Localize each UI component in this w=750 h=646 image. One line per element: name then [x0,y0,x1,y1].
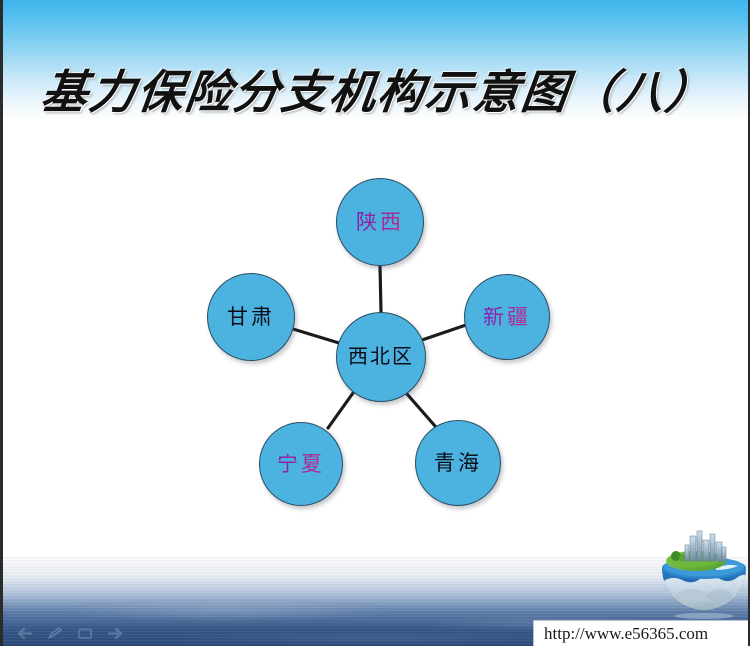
node-shaanxi[interactable]: 陕西 [336,178,424,266]
page-title: 基力保险分支机构示意图（八） [0,56,750,122]
node-label-ningxia: 宁夏 [277,454,325,475]
presenter-nav-controls[interactable] [17,627,123,640]
website-url-box[interactable]: http://www.e56365.com [533,620,750,646]
node-label-xinjiang: 新疆 [483,307,531,328]
node-center-northwest-region[interactable]: 西北区 [336,312,426,402]
globe-city-logo [658,528,750,620]
node-gansu[interactable]: 甘肃 [207,273,295,361]
node-label-gansu: 甘肃 [227,307,275,328]
pen-tool-icon[interactable] [47,627,63,640]
previous-slide-arrow-icon[interactable] [17,627,33,640]
node-qinghai[interactable]: 青海 [415,420,501,506]
next-slide-arrow-icon[interactable] [107,627,123,640]
slide-canvas: 基力保险分支机构示意图（八） 西北区 陕西 新疆 青海 宁夏 甘肃 [0,0,750,646]
node-label-center: 西北区 [348,347,414,367]
node-label-shaanxi: 陕西 [356,212,404,233]
node-ningxia[interactable]: 宁夏 [259,422,343,506]
node-xinjiang[interactable]: 新疆 [464,274,550,360]
node-label-qinghai: 青海 [434,453,482,474]
website-url-text: http://www.e56365.com [544,624,708,644]
slide-menu-icon[interactable] [77,627,93,640]
